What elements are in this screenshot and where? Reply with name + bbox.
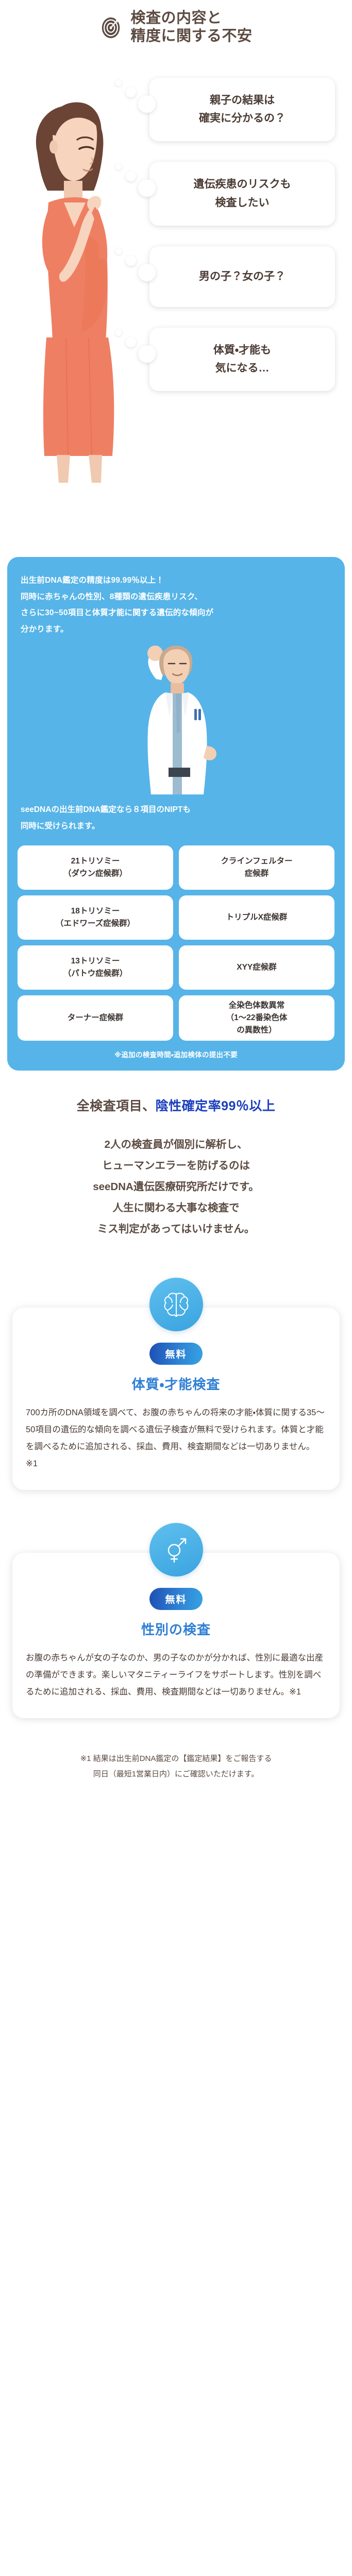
accuracy-heading-brown: 全検査項目、 (77, 1099, 156, 1113)
accuracy-line1: 2人の検査員が個別に解析し、 (10, 1134, 342, 1155)
feature-title: 体質・才能検査 (26, 1374, 326, 1393)
condition-cell: XYY症候群 (179, 945, 334, 990)
accuracy-heading: 全検査項目、陰性確定率99％以上 (10, 1097, 342, 1115)
accuracy-line2: ヒューマンエラーを防げるのは (10, 1155, 342, 1176)
feature-description: お腹の赤ちゃんが女の子なのか、男の子なのかが分かれば、性別に最適な出産の準備がで… (26, 1650, 326, 1701)
condition-line3: の異数性） (226, 1024, 288, 1037)
condition-cell: トリプルX症候群 (179, 895, 334, 940)
condition-cell: 全染色体数異常 （1～22番染色体 の異数性） (179, 995, 334, 1041)
condition-line1: 18トリソミー (56, 905, 135, 918)
condition-line1: 21トリソミー (63, 855, 127, 868)
question-bubble-list: 親子の結果は 確実に分かるの？ 遺伝疾患のリスクも 検査したい 男の子？女の子？… (149, 78, 335, 391)
feature-card-talent: 無料 体質・才能検査 700カ所のDNA領域を調べて、お腹の赤ちゃんの将来の才能… (12, 1278, 340, 1490)
blue-panel-subtext: seeDNAの出生前DNA鑑定なら８項目のNIPTも 同時に受けられます。 (18, 794, 334, 844)
feature-description: 700カ所のDNA領域を調べて、お腹の赤ちゃんの将来の才能・体質に関する35～5… (26, 1404, 326, 1472)
condition-line1: 13トリソミー (63, 955, 127, 968)
accuracy-line4: 人生に関わる大事な検査で (10, 1197, 342, 1218)
free-badge: 無料 (149, 1343, 202, 1365)
hero-section: 親子の結果は 確実に分かるの？ 遺伝疾患のリスクも 検査したい 男の子？女の子？… (0, 49, 352, 544)
condition-line2: （パトウ症候群） (63, 968, 127, 980)
footnote-line2: 同日（最短1営業日内）にご確認いただけます。 (11, 1767, 341, 1782)
brain-icon (149, 1278, 203, 1331)
question-bubble: 体質・才能も 気になる… (149, 328, 335, 391)
free-badge: 無料 (149, 1588, 202, 1610)
page-title: 検査の内容と 精度に関する不安 (130, 9, 252, 46)
lede-line1: 出生前DNA鑑定の精度は99.99％以上！ (21, 572, 331, 589)
gender-symbol-icon (149, 1523, 203, 1577)
condition-cell: クラインフェルター 症候群 (179, 845, 334, 890)
bubble-line2: 検査したい (194, 194, 291, 212)
bubble-tail-dot (115, 330, 122, 336)
lede-line3: さらに30~50項目と体質才能に関する遺伝的な傾向が (21, 605, 331, 621)
feature-paragraph: お腹の赤ちゃんが女の子なのか、男の子なのかが分かれば、性別に最適な出産の準備がで… (26, 1650, 326, 1701)
condition-line1: XYY症候群 (237, 961, 277, 974)
bubble-line1: 親子の結果は (199, 91, 286, 110)
target-icon (99, 15, 123, 39)
feature-card-body: 無料 性別の検査 お腹の赤ちゃんが女の子なのか、男の子なのかが分かれば、性別に最… (12, 1553, 340, 1718)
condition-line1: トリプルX症候群 (226, 911, 288, 924)
bubble-tail-dot (115, 80, 122, 86)
doctor-illustration (112, 640, 241, 794)
feature-title: 性別の検査 (26, 1619, 326, 1638)
bubble-tail-dot (115, 248, 122, 255)
bubble-line1: 男の子？女の子？ (199, 267, 286, 286)
accuracy-line3: seeDNA遺伝医療研究所だけです。 (10, 1176, 342, 1197)
bubble-line1: 遺伝疾患のリスクも (194, 175, 291, 194)
accuracy-body: 2人の検査員が個別に解析し、 ヒューマンエラーを防げるのは seeDNA遺伝医療… (10, 1134, 342, 1240)
condition-line2: （1～22番染色体 (226, 1012, 288, 1024)
condition-note: ※追加の検査時間・追加検体の提出不要 (18, 1041, 334, 1059)
condition-line1: クラインフェルター (221, 855, 292, 868)
bubble-line1: 体質・才能も (213, 341, 271, 360)
blue-info-panel: 出生前DNA鑑定の精度は99.99％以上！ 同時に赤ちゃんの性別、8種類の遺伝疾… (7, 557, 345, 1071)
condition-cell: ターナー症候群 (18, 995, 173, 1041)
bubble-line2: 確実に分かるの？ (199, 109, 286, 128)
condition-grid: 21トリソミー （ダウン症候群） クラインフェルター 症候群 18トリソミー （… (18, 845, 334, 1041)
question-bubble: 遺伝疾患のリスクも 検査したい (149, 162, 335, 225)
feature-card-gender: 無料 性別の検査 お腹の赤ちゃんが女の子なのか、男の子なのかが分かれば、性別に最… (12, 1523, 340, 1718)
footnote-line1: ※1 結果は出生前DNA鑑定の【鑑定結果】をご報告する (11, 1751, 341, 1766)
question-bubble: 親子の結果は 確実に分かるの？ (149, 78, 335, 141)
lede-line4: 分かります。 (21, 621, 331, 638)
bubble-line2: 気になる… (213, 359, 271, 378)
page-header: 検査の内容と 精度に関する不安 (0, 0, 352, 49)
accuracy-heading-blue: 陰性確定率99％以上 (156, 1099, 276, 1113)
feature-card-body: 無料 体質・才能検査 700カ所のDNA領域を調べて、お腹の赤ちゃんの将来の才能… (12, 1308, 340, 1490)
condition-cell: 21トリソミー （ダウン症候群） (18, 845, 173, 890)
condition-line1: 全染色体数異常 (226, 999, 288, 1012)
condition-line2: （ダウン症候群） (63, 868, 127, 880)
page-title-line1: 検査の内容と (130, 9, 252, 27)
feature-paragraph: 700カ所のDNA領域を調べて、お腹の赤ちゃんの将来の才能・体質に関する35～5… (26, 1404, 326, 1472)
sub-line2: 同時に受けられます。 (21, 818, 331, 835)
sub-line1: seeDNAの出生前DNA鑑定なら８項目のNIPTも (21, 802, 331, 818)
condition-line2: （エドワーズ症候群） (56, 918, 135, 930)
condition-cell: 18トリソミー （エドワーズ症候群） (18, 895, 173, 940)
condition-line1: ターナー症候群 (68, 1012, 124, 1024)
question-bubble: 男の子？女の子？ (149, 246, 335, 307)
blue-panel-lede: 出生前DNA鑑定の精度は99.99％以上！ 同時に赤ちゃんの性別、8種類の遺伝疾… (18, 572, 334, 638)
doctor-illustration-wrap (18, 640, 334, 794)
page-title-line2: 精度に関する不安 (130, 27, 252, 45)
condition-line2: 症候群 (221, 868, 292, 880)
pregnant-woman-illustration (16, 80, 127, 487)
lede-line2: 同時に赤ちゃんの性別、8種類の遺伝疾患リスク、 (21, 589, 331, 605)
condition-cell: 13トリソミー （パトウ症候群） (18, 945, 173, 990)
accuracy-section: 全検査項目、陰性確定率99％以上 2人の検査員が個別に解析し、 ヒューマンエラー… (0, 1071, 352, 1245)
accuracy-line5: ミス判定があってはいけません。 (10, 1218, 342, 1240)
footnote: ※1 結果は出生前DNA鑑定の【鑑定結果】をご報告する 同日（最短1営業日内）に… (11, 1751, 341, 1782)
